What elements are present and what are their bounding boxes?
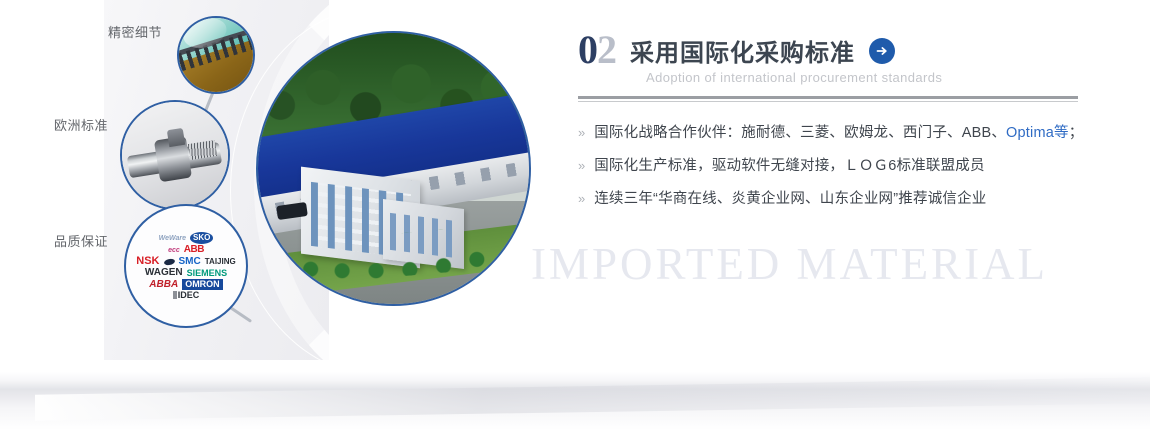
side-label-quality-assurance: 品质保证 <box>54 231 108 250</box>
screw-cap <box>166 127 184 146</box>
bullet-chevron-icon: » <box>578 190 585 208</box>
list-item: » 连续三年“华商在线、炎黄企业网、山东企业网”推荐诚信企业 <box>578 190 1088 209</box>
brand-logo-taijing: TAIJING <box>205 258 236 266</box>
content-column: 02 采用国际化采购标准 Adoption of international p… <box>578 22 1088 223</box>
side-label-european-standard: 欧洲标准 <box>54 115 108 134</box>
brand-logo-weware: WeWare <box>159 235 186 242</box>
ball-screw-photo <box>120 100 230 210</box>
brand-logo-idec: IDEC <box>173 291 200 300</box>
bullet-text-1: 国际化战略合作伙伴：施耐德、三菱、欧姆龙、西门子、ABB、Optima等； <box>594 124 1083 143</box>
brand-logo-nsk: NSK <box>136 256 159 267</box>
divider-thin <box>578 101 1078 102</box>
arrow-right-circle-icon[interactable] <box>869 38 895 64</box>
brand-logo-smc: SMC <box>179 257 201 267</box>
section-headline: 02 采用国际化采购标准 <box>578 22 1088 66</box>
bullet-text-2: 国际化生产标准，驱动软件无缝对接，ＬＯＧ6标准联盟成员 <box>594 157 984 176</box>
promo-section: 精密细节 欧洲标准 品质保证 WeWare SKO ecc ABB NSK <box>0 0 1150 430</box>
brand-row: WAGEN SIEMENS <box>129 268 243 278</box>
brand-logo-ecc: ecc <box>168 247 180 254</box>
brand-row: NSK SMC TAIJING <box>129 256 243 267</box>
section-number-digit-1: 0 <box>578 27 597 72</box>
bullet-text-1-highlight[interactable]: Optima等 <box>1006 125 1069 141</box>
factory-aerial-photo <box>256 31 531 306</box>
gear-detail-photo <box>177 16 255 94</box>
brand-logo-abba: ABBA <box>149 280 178 290</box>
bullet-list: » 国际化战略合作伙伴：施耐德、三菱、欧姆龙、西门子、ABB、Optima等； … <box>578 124 1088 209</box>
list-item: » 国际化生产标准，驱动软件无缝对接，ＬＯＧ6标准联盟成员 <box>578 157 1088 176</box>
bottom-shadow-band <box>0 372 1150 430</box>
bullet-text-3: 连续三年“华商在线、炎黄企业网、山东企业网”推荐诚信企业 <box>594 190 986 209</box>
smc-dot-icon <box>163 257 175 265</box>
side-label-precision: 精密细节 <box>108 22 162 41</box>
watermark-text: IMPORTED MATERIAL <box>531 238 1048 290</box>
bullet-text-1-plain: 国际化战略合作伙伴：施耐德、三菱、欧姆龙、西门子、ABB、 <box>594 125 1006 141</box>
list-item: » 国际化战略合作伙伴：施耐德、三菱、欧姆龙、西门子、ABB、Optima等； <box>578 124 1088 143</box>
brand-row: IDEC <box>129 291 243 300</box>
brand-logo-omron: OMRON <box>182 279 223 290</box>
brand-row: ecc ABB <box>129 245 243 255</box>
brand-row: WeWare SKO <box>129 232 243 244</box>
brand-row: ABBA OMRON <box>129 279 243 290</box>
brand-logo-siemens: SIEMENS <box>187 269 228 278</box>
page-title: 采用国际化采购标准 <box>630 40 855 68</box>
section-number: 02 <box>578 30 616 70</box>
brand-logo-abb: ABB <box>184 245 204 255</box>
section-number-digit-2: 2 <box>597 27 616 72</box>
brand-logo-sko: SKO <box>190 232 213 244</box>
brand-logo-wagen: WAGEN <box>145 268 183 278</box>
brand-logos-collage: WeWare SKO ecc ABB NSK SMC TAIJING WAGEN… <box>124 204 248 328</box>
bullet-chevron-icon: » <box>578 157 585 175</box>
section-subtitle: Adoption of international procurement st… <box>646 70 1088 85</box>
divider-thick <box>578 96 1078 99</box>
bullet-chevron-icon: » <box>578 124 585 142</box>
bullet-text-1-suffix: ； <box>1069 125 1084 141</box>
